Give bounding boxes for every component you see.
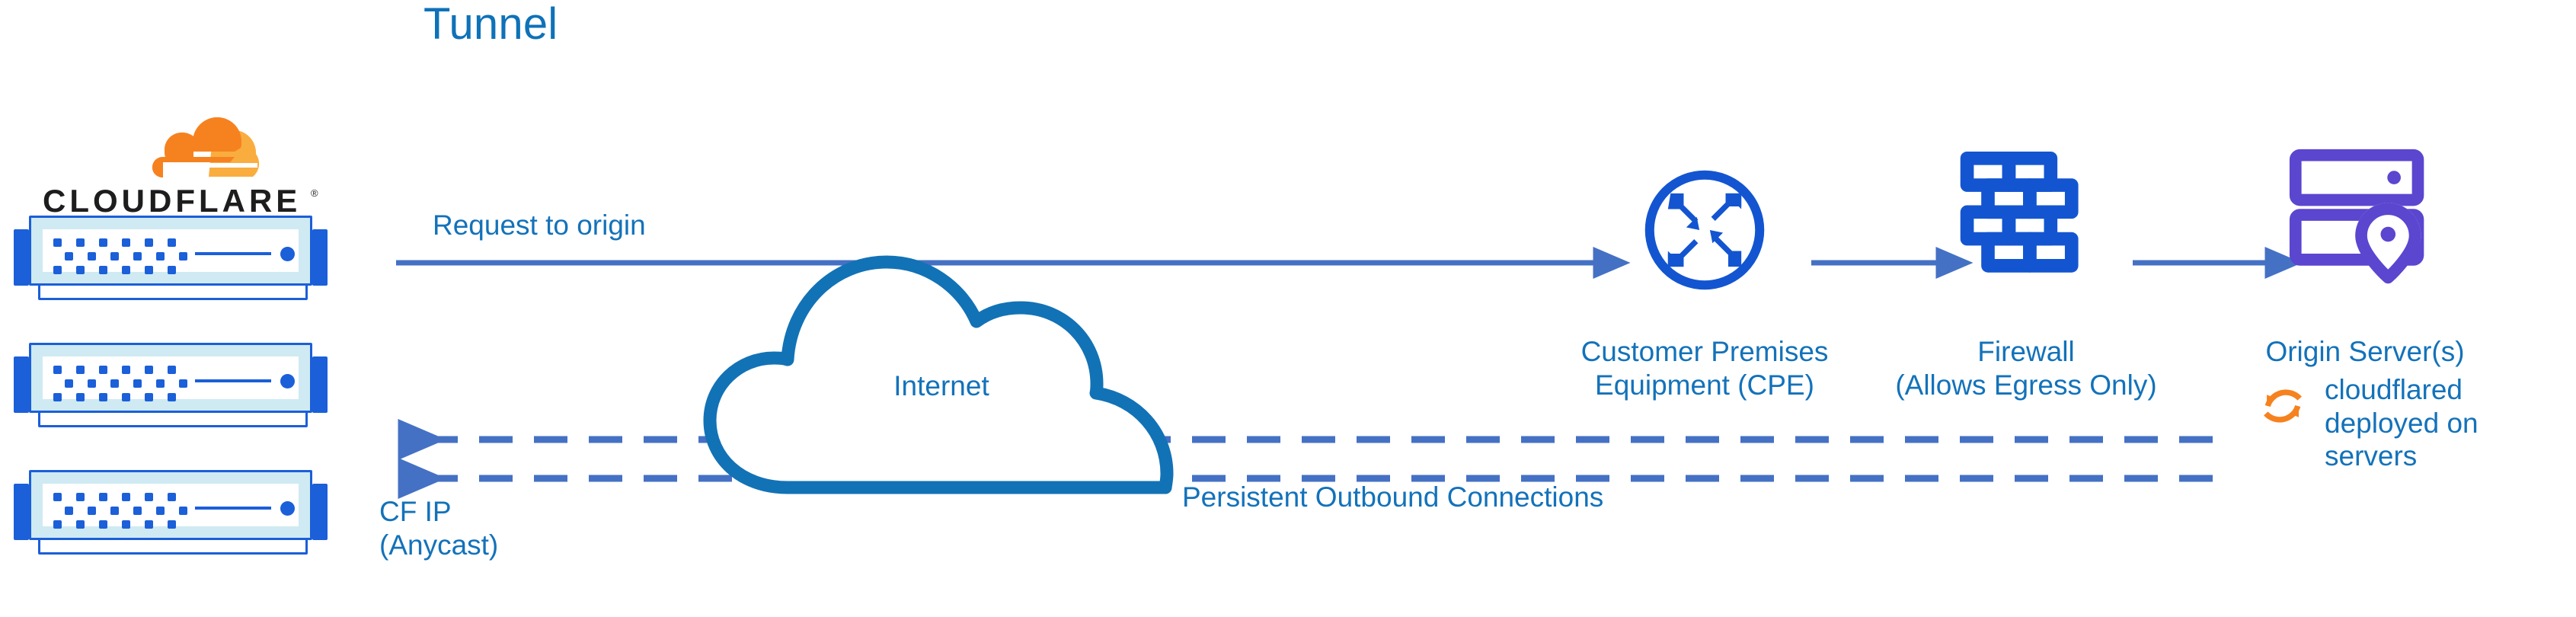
device-status-line (195, 379, 271, 382)
device-front-panel (43, 484, 299, 526)
list-item (14, 216, 328, 301)
device-front-panel (43, 356, 299, 399)
device-side-tab-right (312, 229, 328, 286)
cloud-outline-icon (698, 229, 1185, 503)
device-led-indicator (280, 501, 295, 516)
cloudflare-cloud-logo-icon: CLOUDFLARE ® (21, 105, 326, 219)
firewall-icon-wrapper (1958, 149, 2093, 299)
device-side-tab-right (312, 484, 328, 540)
device-side-tab-left (14, 484, 29, 540)
device-frame (29, 216, 312, 286)
firewall-caption: Firewall (Allows Egress Only) (1881, 335, 2171, 401)
registered-trademark-symbol: ® (311, 187, 318, 199)
internet-cloud (698, 229, 1185, 503)
port-dots-grid (53, 238, 190, 275)
persistent-connections-label: Persistent Outbound Connections (1182, 481, 1603, 513)
device-side-tab-left (14, 356, 29, 413)
request-to-origin-label: Request to origin (433, 209, 646, 241)
device-led-indicator (280, 374, 295, 388)
origin-server-caption: Origin Server(s) (2224, 335, 2506, 369)
internet-label: Internet (850, 370, 1033, 402)
list-item (14, 343, 328, 428)
device-side-tab-left (14, 229, 29, 286)
port-dots-grid (53, 366, 190, 402)
cf-ip-anycast-label: CF IP (Anycast) (379, 495, 498, 561)
device-frame (29, 470, 312, 540)
device-front-panel (43, 229, 299, 272)
brick-wall-icon (1958, 149, 2093, 299)
converging-arrows-circle-icon (1639, 165, 1770, 296)
cloudflared-label: cloudflared deployed on servers (2325, 373, 2500, 473)
page-title: Tunnel (423, 0, 558, 50)
device-frame (29, 343, 312, 413)
device-led-indicator (280, 247, 295, 261)
cpe-caption: Customer Premises Equipment (CPE) (1560, 335, 1849, 401)
origin-server-icon-wrapper (2287, 143, 2436, 293)
cloudflare-logo: CLOUDFLARE ® (21, 105, 326, 219)
device-status-line (195, 252, 271, 255)
list-item (14, 470, 328, 555)
tunnel-diagram: Tunnel (0, 0, 2576, 617)
server-rack-with-location-pin-icon (2287, 143, 2436, 293)
cpe-icon-wrapper (1639, 165, 1770, 296)
port-dots-grid (53, 493, 190, 529)
cloudflare-wordmark: CLOUDFLARE (43, 183, 301, 219)
device-side-tab-right (312, 356, 328, 413)
sync-refresh-circular-arrows-icon (2255, 378, 2311, 434)
device-status-line (195, 507, 271, 510)
